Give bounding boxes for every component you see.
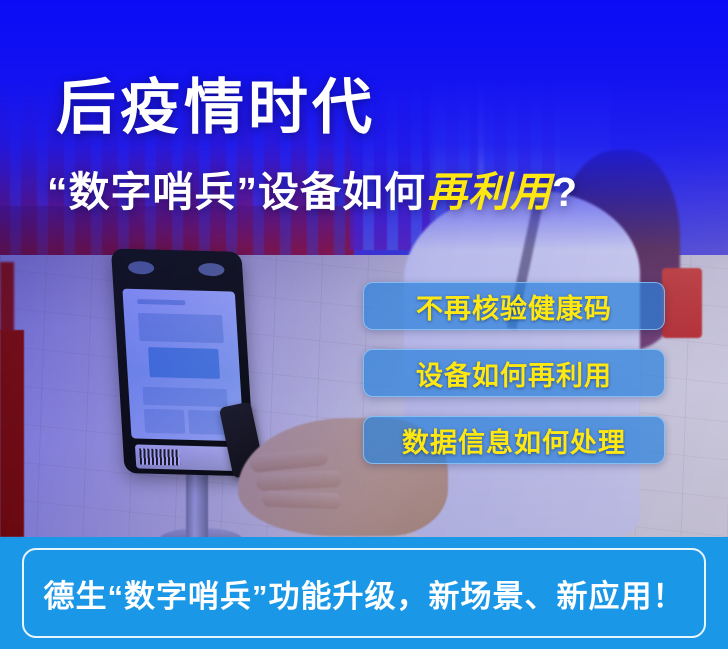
bottom-banner-text: 德生“数字哨兵”功能升级，新场景、新应用！	[44, 571, 685, 616]
page-title: 后疫情时代	[56, 78, 376, 138]
subtitle-highlight: 再利用	[426, 169, 552, 215]
page-subtitle: “数字哨兵”设备如何再利用?	[47, 172, 578, 213]
topic-pill-1[interactable]: 不再核验健康码	[363, 282, 665, 330]
topic-pill-2[interactable]: 设备如何再利用	[363, 349, 665, 397]
topic-pill-list: 不再核验健康码 设备如何再利用 数据信息如何处理	[363, 282, 665, 464]
topic-pill-1-label: 不再核验健康码	[416, 287, 612, 326]
topic-pill-2-label: 设备如何再利用	[416, 354, 612, 393]
subtitle-lead: “数字哨兵”设备如何	[47, 169, 426, 215]
topic-pill-3[interactable]: 数据信息如何处理	[363, 416, 665, 464]
poster-root: 后疫情时代 “数字哨兵”设备如何再利用? 不再核验健康码 设备如何再利用 数据信…	[0, 0, 728, 649]
bottom-banner-box: 德生“数字哨兵”功能升级，新场景、新应用！	[22, 548, 706, 638]
bottom-banner: 德生“数字哨兵”功能升级，新场景、新应用！	[0, 537, 728, 649]
topic-pill-3-label: 数据信息如何处理	[402, 421, 626, 460]
subtitle-tail: ?	[552, 169, 578, 215]
